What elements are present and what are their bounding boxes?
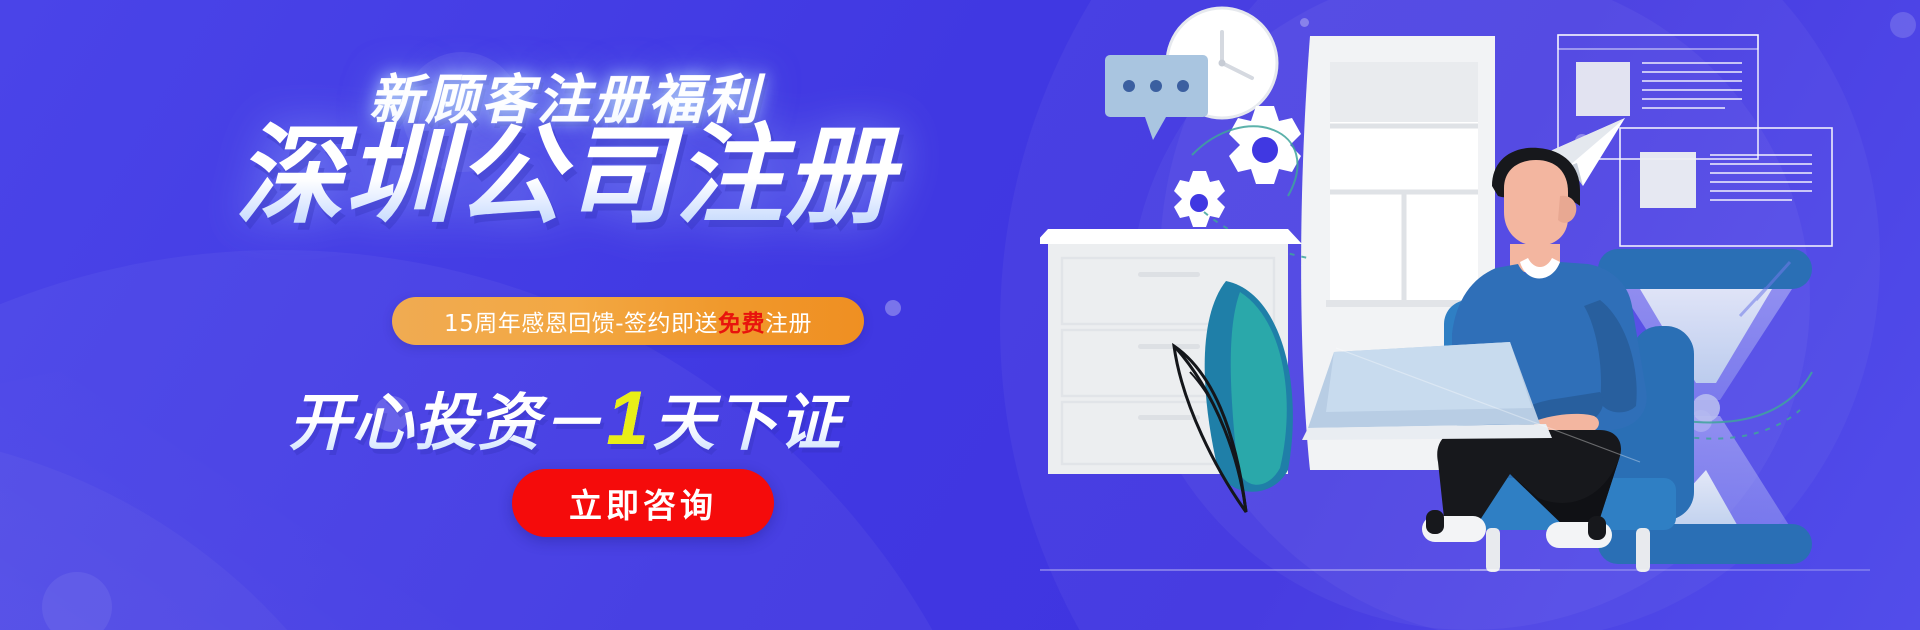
tagline-before: 开心投资－ bbox=[288, 389, 603, 458]
tagline-text: 开心投资－1天下证 bbox=[0, 372, 1130, 462]
hero-illustration bbox=[1040, 0, 1920, 630]
badge-prefix: 15周年感恩回馈-签约即送 bbox=[444, 311, 718, 337]
badge-suffix: 注册 bbox=[765, 311, 812, 337]
laptop-icon bbox=[1302, 342, 1552, 440]
consult-now-button[interactable]: 立即咨询 bbox=[512, 469, 774, 537]
anniversary-badge: 15周年感恩回馈-签约即送免费注册 bbox=[392, 297, 864, 345]
tagline-number: 1 bbox=[603, 376, 652, 461]
page-title: 深圳公司注册 bbox=[0, 118, 1130, 235]
tagline-after: 天下证 bbox=[653, 389, 842, 458]
promo-banner: 新顾客注册福利 深圳公司注册 15周年感恩回馈-签约即送免费注册 开心投资－1天… bbox=[0, 0, 1920, 630]
promo-copy-block: 新顾客注册福利 深圳公司注册 15周年感恩回馈-签约即送免费注册 开心投资－1天… bbox=[0, 0, 1130, 630]
badge-text: 15周年感恩回馈-签约即送免费注册 bbox=[444, 304, 812, 338]
badge-highlight: 免费 bbox=[718, 311, 765, 337]
consult-now-label: 立即咨询 bbox=[569, 479, 717, 527]
